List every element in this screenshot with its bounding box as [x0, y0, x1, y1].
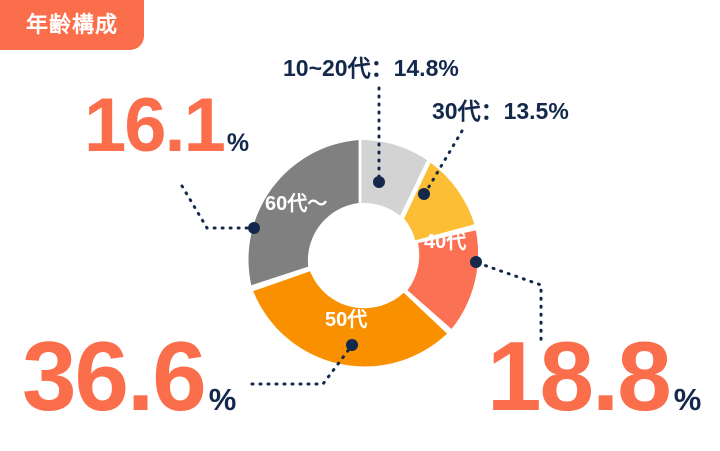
- callout-value-40-number: 18.8: [487, 337, 670, 415]
- slice-label-40: 40代: [424, 232, 466, 252]
- slice-label-50: 50代: [325, 310, 367, 330]
- callout-value-60: 16.1 %: [84, 96, 249, 157]
- callout-value-40-percent: %: [674, 384, 702, 415]
- leader-line-60: [182, 186, 260, 234]
- callout-value-60-percent: %: [227, 131, 249, 156]
- age-composition-chart-figure: 年齢構成: [0, 0, 720, 451]
- callout-value-40: 18.8 %: [487, 337, 701, 415]
- callout-label-30: 30代：13.5%: [432, 100, 569, 123]
- callout-value-60-number: 16.1: [84, 96, 224, 157]
- callout-value-50-percent: %: [209, 384, 237, 415]
- callout-value-50-number: 36.6: [22, 337, 205, 415]
- slice-label-60: 60代～: [265, 194, 327, 214]
- callout-value-50: 36.6 %: [22, 337, 236, 415]
- callout-label-10-20: 10~20代：14.8%: [283, 57, 459, 80]
